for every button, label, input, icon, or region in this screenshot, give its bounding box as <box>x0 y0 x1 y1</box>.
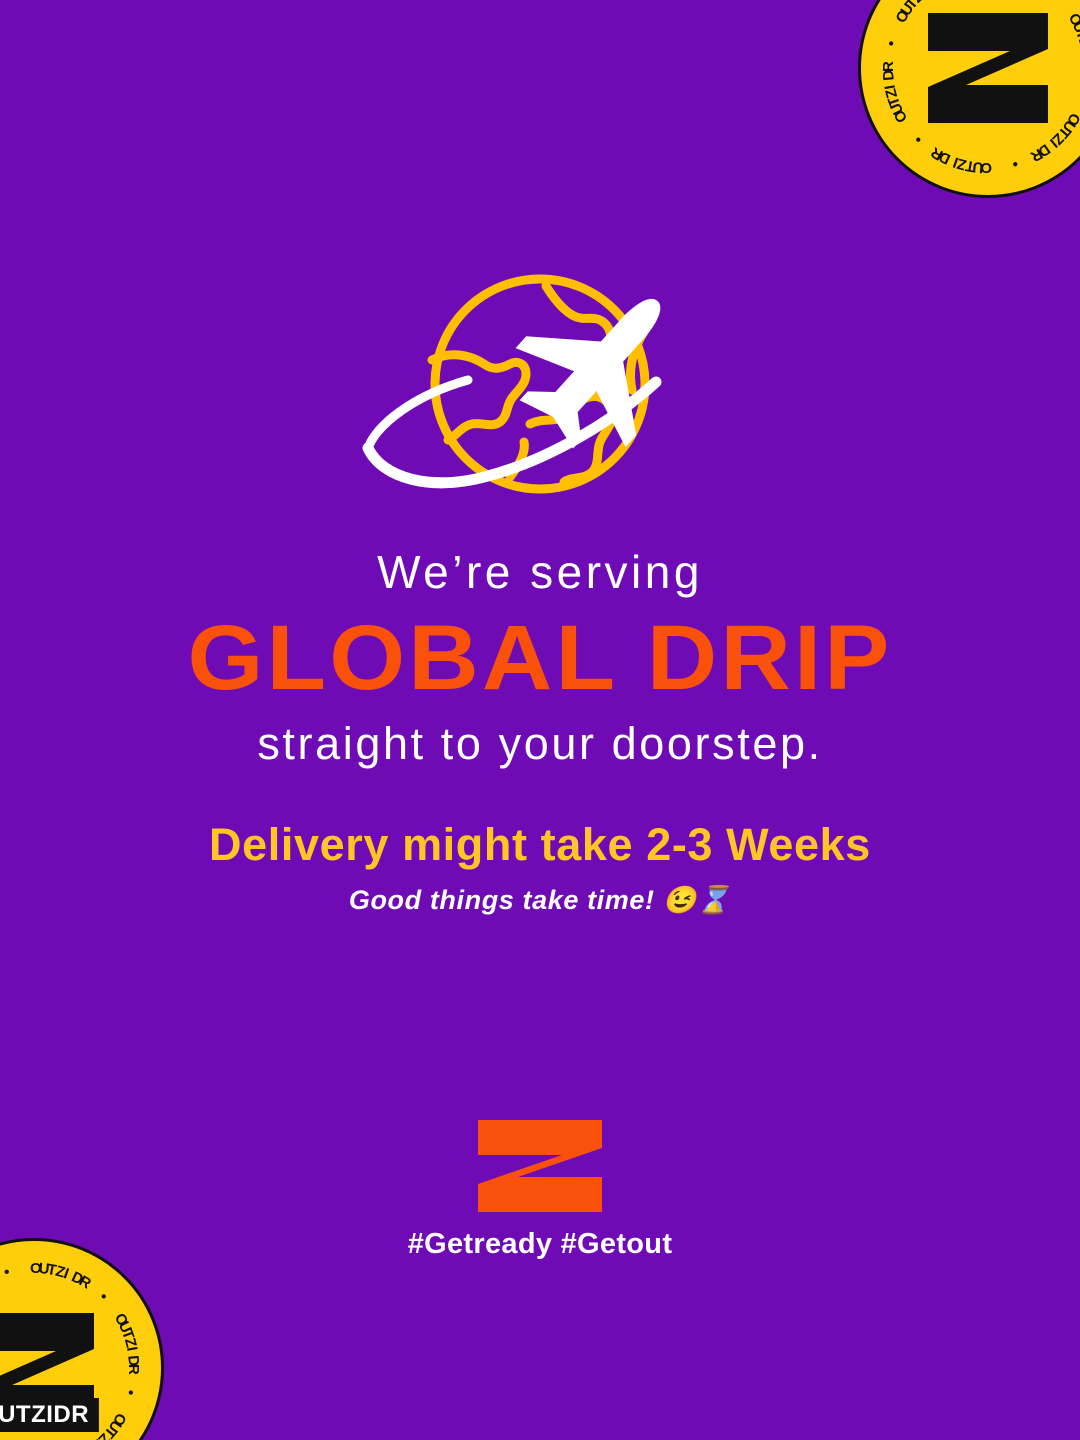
stamp-ring-char: • <box>910 131 927 148</box>
stamp-ring-char: • <box>2 1263 13 1281</box>
outzidr-stamp-top-right: OUTZIDR•OUTZIDR•OUTZIDR•OUTZIDR•OUTZIDR•… <box>858 0 1080 198</box>
stamp-ring-char: • <box>1075 88 1080 99</box>
promo-poster: OUTZIDR•OUTZIDR•OUTZIDR•OUTZIDR•OUTZIDR•… <box>0 0 1080 1440</box>
headline-block: We’re serving GLOBAL DRIP straight to yo… <box>0 548 1080 768</box>
delivery-reassurance-text: Good things take time! 😉⌛ <box>0 884 1080 916</box>
stamp-ring-char: • <box>1009 155 1020 173</box>
stamp-ring-char: • <box>883 38 901 49</box>
delivery-time-text: Delivery might take 2-3 Weeks <box>0 820 1080 870</box>
outzidr-stamp-bottom-left: OUTZIDR•OUTZIDR•OUTZIDR•OUTZIDR•OUTZIDR•… <box>0 1238 164 1440</box>
globe-airplane-icon <box>360 272 720 512</box>
stamp-ring-char: R <box>125 1364 142 1376</box>
footer-lockup: #Getready #Getout <box>0 1120 1080 1261</box>
brand-z-logo-icon <box>478 1120 602 1212</box>
stamp-ring-char: R <box>880 60 897 72</box>
stamp-ring-char: • <box>1050 0 1067 5</box>
stamp-ring-char: • <box>96 1289 113 1306</box>
subline-text: straight to your doorstep. <box>0 720 1080 767</box>
eyebrow-text: We’re serving <box>0 548 1080 596</box>
stamp-ring-char: • <box>121 1388 139 1399</box>
stamp-wordmark: OUTZIDR <box>0 1398 99 1432</box>
delivery-note: Delivery might take 2-3 Weeks Good thing… <box>0 820 1080 916</box>
z-logo-icon <box>922 9 1054 127</box>
hashtag-text: #Getready #Getout <box>0 1228 1080 1261</box>
page-title: GLOBAL DRIP <box>0 612 1080 704</box>
